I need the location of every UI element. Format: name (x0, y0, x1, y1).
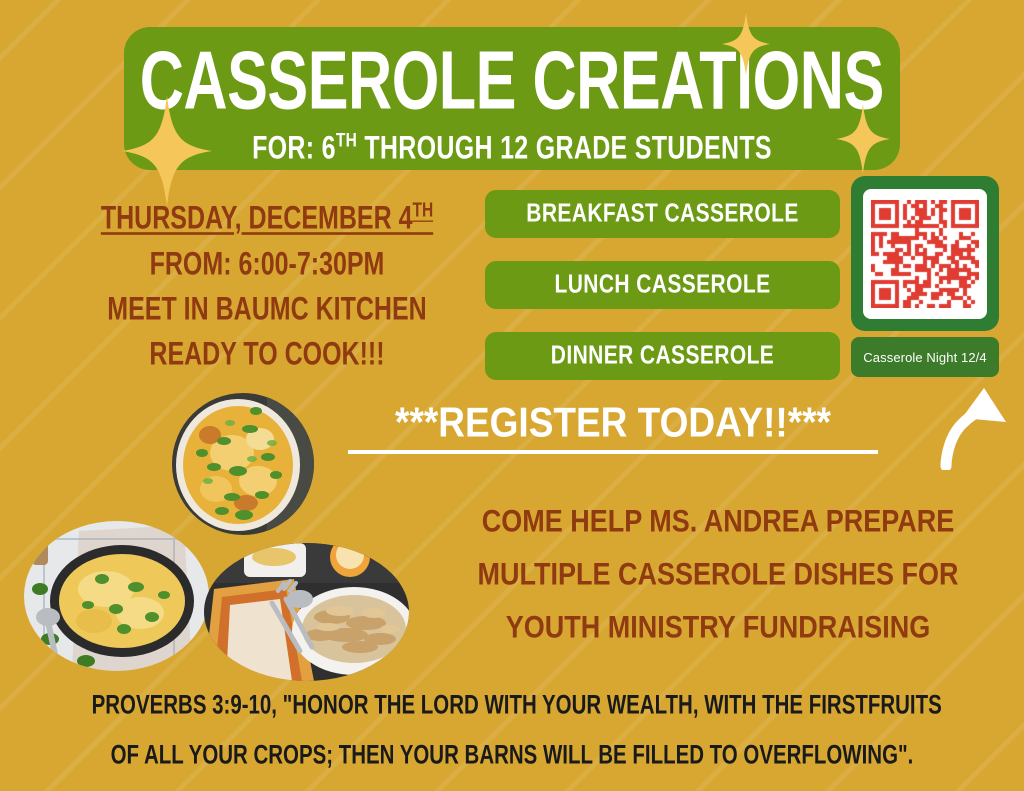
description-line: YOUTH MINISTRY FUNDRAISING (444, 612, 992, 644)
event-info-block: THURSDAY, DECEMBER 4TH FROM: 6:00-7:30PM… (52, 192, 482, 386)
event-note: READY TO COOK!!! (52, 337, 482, 371)
menu-item-label: LUNCH CASSEROLE (554, 270, 770, 300)
menu-item-breakfast[interactable]: BREAKFAST CASSEROLE (485, 190, 840, 238)
description-block: COME HELP MS. ANDREA PREPARE MULTIPLE CA… (444, 508, 992, 667)
description-line: MULTIPLE CASSEROLE DISHES FOR (444, 559, 992, 591)
menu-item-dinner[interactable]: DINNER CASSEROLE (485, 332, 840, 380)
register-callout: ***REGISTER TODAY!!*** (348, 404, 878, 454)
casserole-photo-top (172, 393, 314, 535)
subtitle-prefix: FOR: 6 (252, 131, 336, 167)
description-line: COME HELP MS. ANDREA PREPARE (444, 506, 992, 538)
qr-caption-label: Casserole Night 12/4 (863, 350, 986, 365)
scripture-line: PROVERBS 3:9-10, "HONOR THE LORD WITH YO… (92, 692, 933, 719)
register-text: ***REGISTER TODAY!!*** (395, 402, 831, 443)
header-banner: CASSEROLE CREATIONS FOR: 6TH THROUGH 12 … (124, 27, 900, 170)
page-title: CASSEROLE CREATIONS (140, 40, 884, 123)
qr-code-card[interactable] (851, 176, 999, 331)
page-subtitle: FOR: 6TH THROUGH 12 GRADE STUDENTS (252, 132, 772, 166)
event-date: THURSDAY, DECEMBER 4TH (52, 201, 482, 236)
qr-code-icon[interactable] (863, 189, 987, 319)
menu-item-lunch[interactable]: LUNCH CASSEROLE (485, 261, 840, 309)
casserole-photo-right (204, 543, 409, 681)
curved-up-arrow-icon (940, 388, 1012, 475)
event-date-superscript: TH (412, 200, 433, 222)
event-date-text: THURSDAY, DECEMBER 4 (101, 200, 413, 236)
poster-canvas: CASSEROLE CREATIONS FOR: 6TH THROUGH 12 … (0, 0, 1024, 791)
qr-caption-box: Casserole Night 12/4 (851, 337, 999, 377)
menu-button-list: BREAKFAST CASSEROLE LUNCH CASSEROLE DINN… (485, 190, 840, 403)
register-underline (348, 450, 878, 454)
casserole-photo-left (24, 521, 209, 671)
subtitle-suffix: THROUGH 12 GRADE STUDENTS (357, 131, 772, 167)
scripture-line: OF ALL YOUR CROPS; THEN YOUR BARNS WILL … (92, 742, 933, 769)
menu-item-label: DINNER CASSEROLE (551, 341, 774, 371)
scripture-block: PROVERBS 3:9-10, "HONOR THE LORD WITH YO… (60, 694, 964, 791)
subtitle-superscript: TH (336, 130, 357, 152)
menu-item-label: BREAKFAST CASSEROLE (526, 199, 798, 229)
event-location: MEET IN BAUMC KITCHEN (52, 292, 482, 326)
event-time: FROM: 6:00-7:30PM (52, 247, 482, 281)
